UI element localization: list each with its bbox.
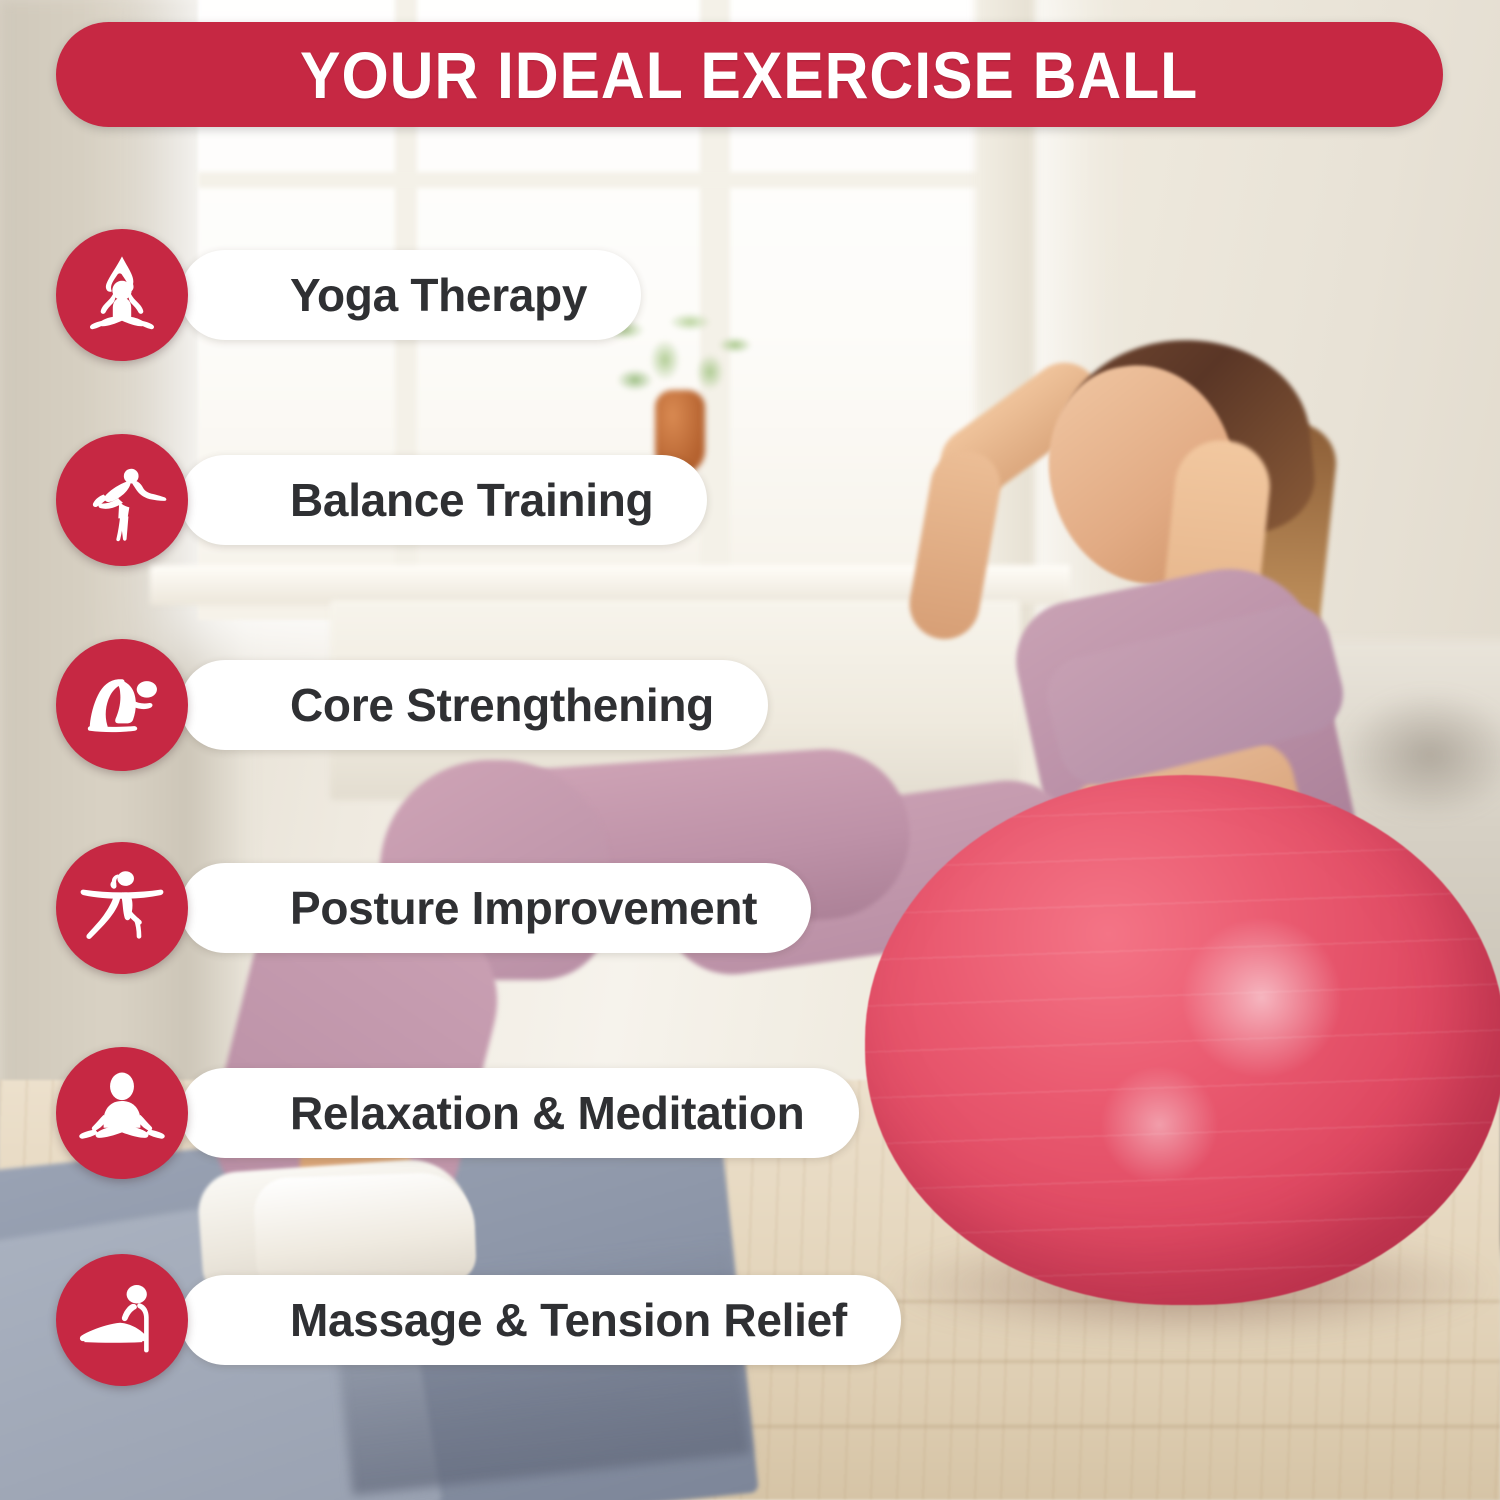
- feature-pill: Yoga Therapy: [180, 250, 641, 340]
- feature-pill: Balance Training: [180, 455, 707, 545]
- meditation-seated-icon: [56, 1047, 188, 1179]
- feature-label: Core Strengthening: [290, 678, 714, 732]
- feature-list: Yoga Therapy: [0, 0, 1500, 1500]
- massage-table-icon: [56, 1254, 188, 1386]
- feature-label: Yoga Therapy: [290, 268, 587, 322]
- feature-pill: Core Strengthening: [180, 660, 768, 750]
- feature-label: Relaxation & Meditation: [290, 1086, 805, 1140]
- feature-pill: Relaxation & Meditation: [180, 1068, 859, 1158]
- feature-pill: Posture Improvement: [180, 863, 811, 953]
- feature-pill: Massage & Tension Relief: [180, 1275, 901, 1365]
- feature-label: Massage & Tension Relief: [290, 1293, 847, 1347]
- product-infographic: YOUR IDEAL EXERCISE BALL Yoga Therapy: [0, 0, 1500, 1500]
- lotus-pose-icon: [56, 229, 188, 361]
- warrior-pose-icon: [56, 842, 188, 974]
- balance-pose-icon: [56, 434, 188, 566]
- feature-label: Posture Improvement: [290, 881, 757, 935]
- feature-label: Balance Training: [290, 473, 653, 527]
- core-crunch-icon: [56, 639, 188, 771]
